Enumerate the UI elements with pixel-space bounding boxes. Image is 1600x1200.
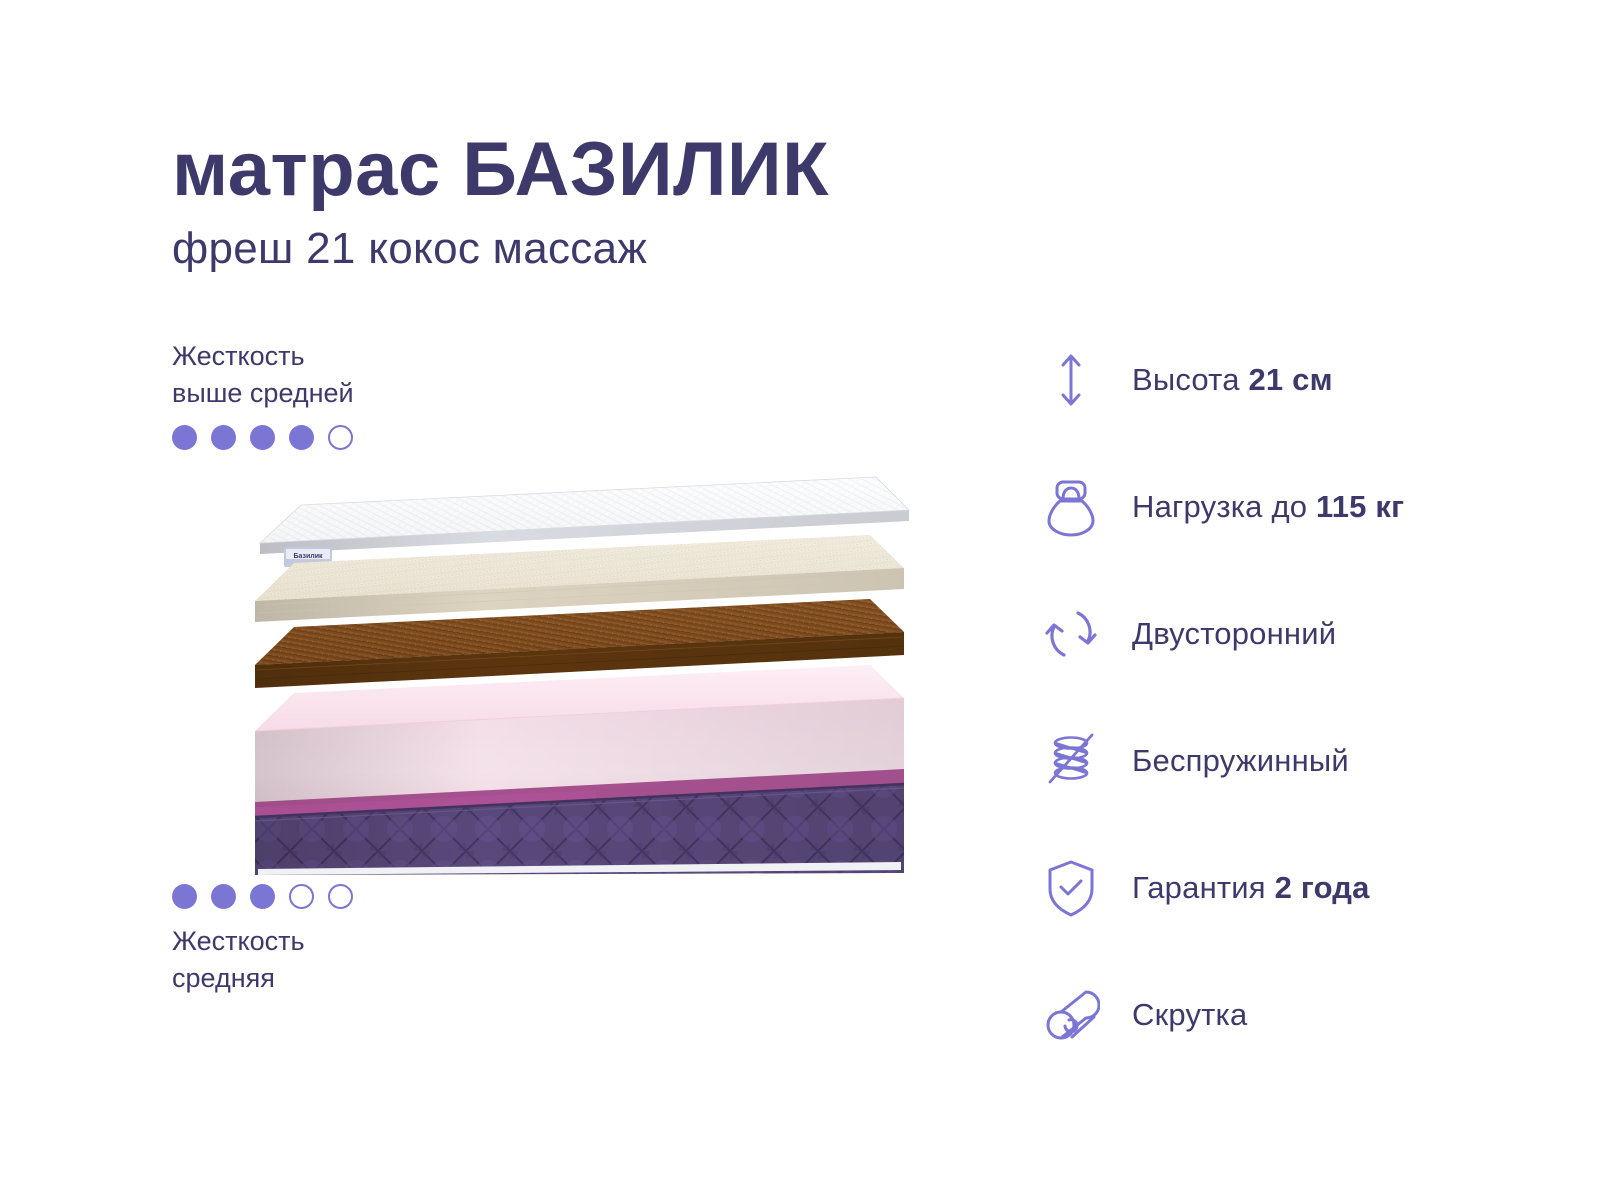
firmness-dot-filled [211,425,236,450]
page-title: матрас БАЗИЛИК [172,132,829,208]
feature-height: Высота 21 см [1036,328,1506,432]
page-subtitle: фреш 21 кокос массаж [172,224,829,275]
firmness-bottom-label: Жесткость средняя [172,923,353,998]
title-block: матрас БАЗИЛИК фреш 21 кокос массаж [172,132,829,275]
firmness-top-dots [172,425,354,450]
firmness-dot-filled [289,425,314,450]
product-infographic: матрас БАЗИЛИК фреш 21 кокос массаж Жест… [0,0,1600,1200]
feature-warranty: Гарантия 2 года [1036,836,1506,940]
feature-rolled-label: Скрутка [1132,997,1247,1033]
firmness-indicator-top: Жесткость выше средней [172,338,354,450]
feature-double-sided-label: Двусторонний [1132,616,1336,652]
firmness-dot-filled [172,425,197,450]
firmness-dot-empty [328,425,353,450]
feature-max-load-label: Нагрузка до 115 кг [1132,489,1404,525]
svg-text:Базилик: Базилик [293,553,323,560]
firmness-dot-filled [250,884,275,909]
roll-icon [1036,978,1106,1052]
crossed-spring-icon [1036,724,1106,798]
feature-warranty-label: Гарантия 2 года [1132,870,1370,906]
feature-springless: Беспружинный [1036,709,1506,813]
feature-rolled: Скрутка [1036,963,1506,1067]
firmness-dot-filled [211,884,236,909]
firmness-top-label: Жесткость выше средней [172,338,354,413]
height-arrow-icon [1036,343,1106,417]
mattress-layers-illustration: Базилик [246,455,911,875]
kettlebell-icon [1036,470,1106,544]
shield-check-icon [1036,851,1106,925]
firmness-dot-filled [250,425,275,450]
feature-max-load: Нагрузка до 115 кг [1036,455,1506,559]
feature-height-label: Высота 21 см [1132,362,1333,398]
firmness-dot-empty [289,884,314,909]
firmness-dot-filled [172,884,197,909]
firmness-indicator-bottom: Жесткость средняя [172,884,353,998]
firmness-bottom-dots [172,884,353,909]
rotate-icon [1036,597,1106,671]
firmness-dot-empty [328,884,353,909]
feature-springless-label: Беспружинный [1132,743,1349,779]
feature-list: Высота 21 см Нагрузка до 115 кг [1036,328,1506,1067]
feature-double-sided: Двусторонний [1036,582,1506,686]
